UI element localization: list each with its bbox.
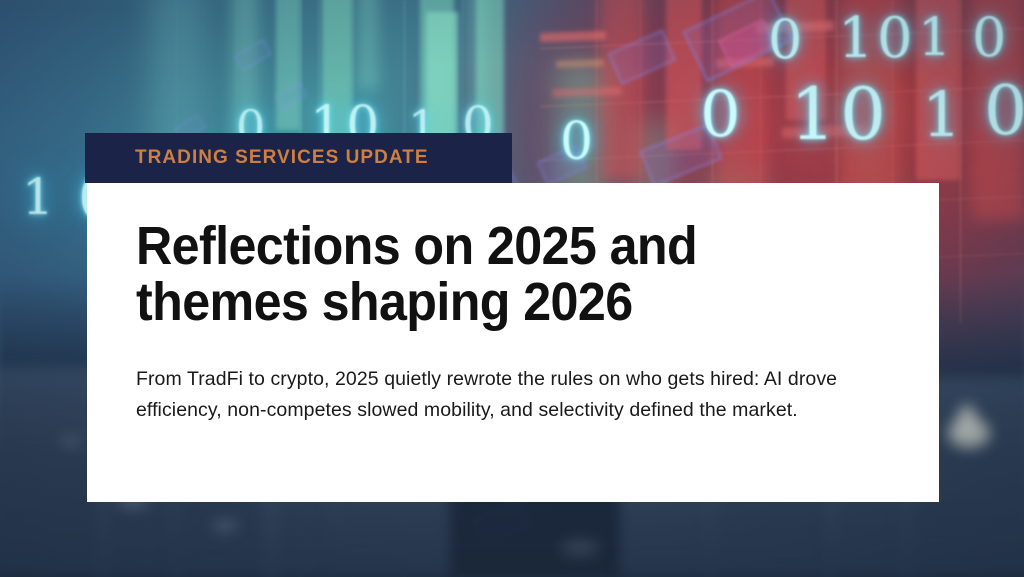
content-card: Reflections on 2025 and themes shaping 2… — [87, 183, 939, 502]
binary-digit: 1 — [922, 78, 965, 151]
binary-digit: 1 — [918, 8, 954, 68]
page-summary: From TradFi to crypto, 2025 quietly rewr… — [136, 364, 926, 426]
binary-digit: 0 — [984, 72, 1024, 151]
binary-digit: 0 — [768, 8, 806, 71]
binary-digit: 0 — [560, 112, 596, 172]
page-title: Reflections on 2025 and themes shaping 2… — [136, 218, 857, 330]
eyebrow-label: TRADING SERVICES UPDATE — [135, 147, 429, 169]
binary-digit: 1 — [22, 168, 57, 226]
slide-canvas: 1 0 0 10 1 0 0 0 10 1 0 0 10 1 0 — [0, 0, 1024, 577]
binary-digit: 10 — [790, 72, 890, 156]
binary-digit: 10 — [838, 6, 916, 71]
binary-digit: 0 — [972, 6, 1010, 69]
eyebrow-banner: TRADING SERVICES UPDATE — [85, 133, 512, 183]
binary-digit: 0 — [700, 78, 745, 152]
